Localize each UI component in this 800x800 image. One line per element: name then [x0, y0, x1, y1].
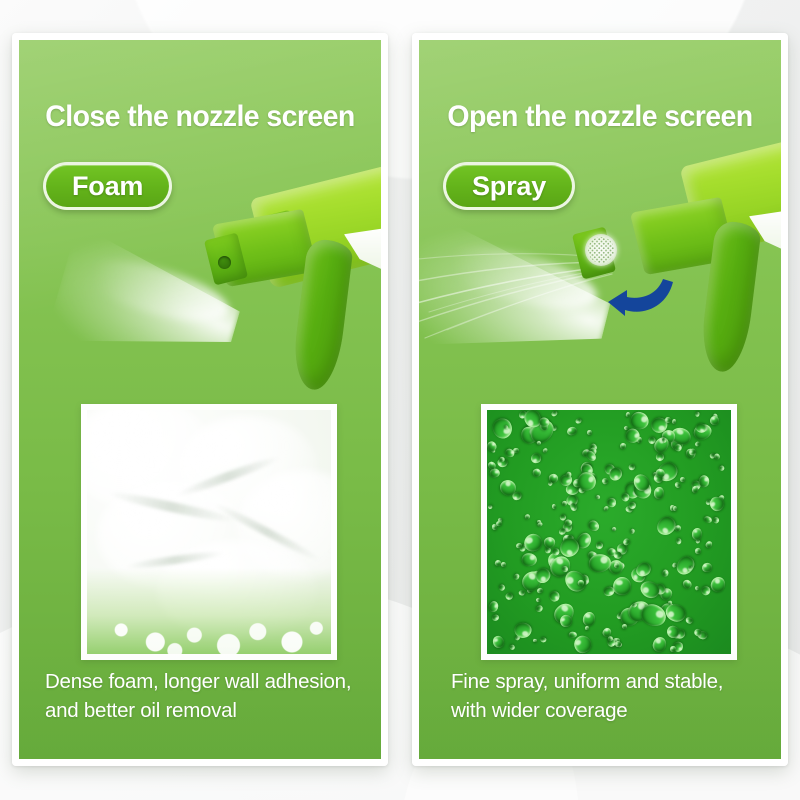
water-droplet: [487, 504, 493, 510]
water-droplet: [487, 440, 498, 452]
spray-caption: Fine spray, uniform and stable, with wid…: [419, 645, 781, 759]
water-droplet: [674, 481, 682, 489]
water-droplet: [491, 614, 500, 622]
spray-caption-line-1: Fine spray, uniform and stable,: [451, 667, 755, 696]
foam-photo: [87, 410, 331, 654]
mist-streak-lines: [412, 226, 617, 356]
water-droplet: [603, 585, 616, 596]
water-droplet: [536, 587, 544, 594]
foam-stream-mist: [44, 214, 253, 391]
water-droplet: [653, 487, 664, 499]
water-droplet: [705, 540, 713, 549]
trigger-sprayer-open-nozzle: [419, 40, 788, 400]
water-droplet: [685, 616, 694, 625]
water-droplet: [594, 541, 603, 550]
water-droplet: [549, 590, 561, 603]
nozzle-orifice: [218, 256, 231, 269]
water-droplet: [490, 469, 501, 479]
water-droplet: [628, 463, 636, 471]
sprayer-trigger: [290, 238, 354, 392]
bottle-shoulder-highlight: [749, 208, 788, 254]
water-droplet: [674, 553, 698, 578]
water-droplet: [566, 426, 578, 437]
water-droplet: [718, 465, 725, 472]
sprayer-body: [250, 139, 388, 289]
water-droplet: [692, 528, 703, 541]
water-droplet: [587, 429, 592, 434]
water-droplet: [536, 598, 541, 603]
water-droplet: [519, 590, 525, 596]
water-droplet: [551, 504, 556, 510]
spray-caption-line-2: with wider coverage: [451, 696, 755, 725]
spray-badge: Spray: [443, 162, 575, 210]
water-droplet: [535, 604, 544, 613]
water-droplet: [529, 451, 543, 465]
foam-caption-line-2: and better oil removal: [45, 696, 355, 725]
water-droplet: [574, 418, 582, 425]
nozzle-tip-open: [572, 227, 616, 280]
sprayer-collar: [233, 209, 301, 262]
water-droplet: [629, 528, 635, 534]
water-droplet: [565, 519, 572, 525]
water-droplet: [619, 442, 627, 451]
sprayer-trigger: [698, 220, 762, 374]
foam-bubbles: [87, 568, 331, 654]
sprayer-collar: [641, 211, 709, 264]
water-droplet: [490, 416, 516, 442]
spray-panel: Open the nozzle screen Spray: [412, 33, 788, 766]
foam-caption: Dense foam, longer wall adhesion, and be…: [19, 645, 381, 759]
water-droplet: [655, 452, 666, 463]
water-droplet: [515, 622, 533, 639]
water-droplet: [654, 513, 679, 538]
water-droplet: [709, 575, 727, 594]
water-droplet: [551, 547, 560, 556]
water-droplet: [611, 526, 617, 532]
water-droplet: [694, 441, 700, 447]
water-droplet: [672, 506, 677, 511]
spray-panel-headline: Open the nozzle screen: [425, 102, 774, 132]
water-droplet: [629, 502, 636, 509]
water-droplets-photo: [487, 410, 731, 654]
water-droplet: [691, 485, 699, 494]
water-droplet: [498, 584, 506, 592]
water-droplet: [521, 553, 536, 566]
water-droplet: [712, 516, 721, 525]
water-droplet: [680, 476, 686, 482]
water-droplet: [671, 419, 677, 425]
sprayer-neck: [212, 209, 318, 287]
fine-mist-core: [436, 235, 603, 320]
sprayer-neck: [630, 197, 736, 275]
water-droplet: [710, 416, 719, 425]
bottle-shoulder-highlight: [344, 226, 388, 272]
water-droplet: [621, 623, 628, 630]
water-droplet: [694, 547, 701, 555]
water-droplet: [713, 453, 721, 461]
water-droplet: [587, 518, 602, 532]
water-droplet: [533, 639, 537, 643]
rotate-nozzle-arrow-icon: [605, 268, 677, 322]
nozzle-tip-closed: [204, 233, 248, 286]
water-droplet: [620, 492, 629, 501]
water-droplet: [487, 600, 499, 614]
water-droplet: [582, 612, 596, 627]
droplets-photo-frame: [481, 404, 737, 660]
foam-badge-label: Foam: [72, 171, 143, 202]
fine-mist-fan: [412, 200, 624, 394]
water-droplet: [701, 563, 712, 573]
water-droplet: [699, 475, 710, 488]
water-droplet: [551, 410, 558, 417]
water-droplet: [501, 562, 506, 567]
water-droplet: [542, 447, 549, 454]
water-droplet: [521, 531, 545, 554]
foam-caption-line-1: Dense foam, longer wall adhesion,: [45, 667, 355, 696]
water-droplet: [504, 592, 513, 601]
water-droplet: [694, 585, 700, 591]
water-droplet: [681, 578, 692, 589]
water-droplet: [491, 524, 497, 531]
infographic-canvas: Close the nozzle screen Foam: [0, 0, 800, 800]
water-droplet: [565, 472, 571, 479]
water-droplet: [531, 467, 541, 478]
foam-stream-core: [78, 248, 235, 334]
nozzle-screen-mesh: [585, 234, 617, 266]
water-droplet: [676, 538, 681, 544]
water-droplet: [699, 585, 711, 597]
water-droplet: [524, 513, 531, 520]
foam-panel: Close the nozzle screen Foam: [12, 33, 388, 766]
spray-badge-label: Spray: [472, 171, 546, 202]
water-droplet: [625, 411, 630, 416]
water-droplet: [601, 477, 610, 486]
water-droplet: [612, 576, 632, 595]
panel-sheen: [12, 33, 388, 428]
water-droplet: [585, 626, 589, 630]
water-droplet: [596, 495, 601, 500]
water-droplet: [537, 522, 543, 528]
water-droplet: [694, 412, 699, 417]
water-droplet: [704, 515, 713, 524]
trigger-sprayer-closed-nozzle: [19, 40, 388, 400]
foam-photo-frame: [81, 404, 337, 660]
panel-sheen: [412, 33, 788, 428]
water-droplet: [662, 569, 669, 577]
foam-panel-headline: Close the nozzle screen: [25, 102, 374, 132]
foam-badge: Foam: [43, 162, 172, 210]
water-droplet: [513, 573, 520, 580]
water-droplet: [540, 637, 547, 643]
